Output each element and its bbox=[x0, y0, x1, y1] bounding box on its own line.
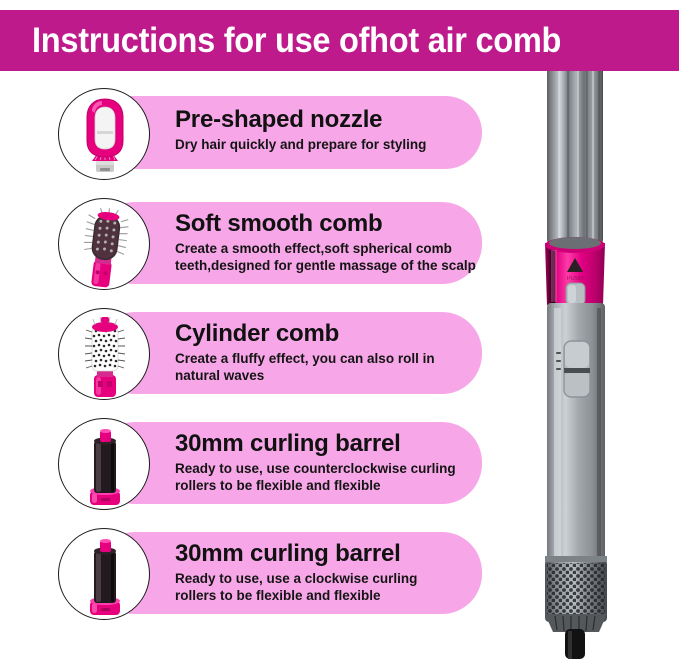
instruction-description: Create a smooth effect,soft spherical co… bbox=[175, 240, 467, 274]
mesh-filter bbox=[545, 556, 607, 632]
instruction-pill: Soft smooth comb Create a smooth effect,… bbox=[95, 202, 482, 284]
instruction-description-line: Create a fluffy effect, you can also rol… bbox=[175, 350, 467, 367]
instruction-pill: Cylinder comb Create a fluffy effect, yo… bbox=[95, 312, 482, 394]
instruction-description-line: Dry hair quickly and prepare for styling bbox=[175, 136, 467, 153]
instruction-description-line: teeth,designed for gentle massage of the… bbox=[175, 257, 467, 274]
power-cord bbox=[565, 629, 585, 659]
curling-barrel-counterclockwise-icon bbox=[58, 418, 150, 510]
instruction-title: 30mm curling barrel bbox=[175, 540, 475, 568]
instruction-row[interactable]: Cylinder comb Create a fluffy effect, yo… bbox=[0, 302, 520, 406]
instruction-description: Create a fluffy effect, you can also rol… bbox=[175, 350, 467, 384]
instruction-row[interactable]: 30mm curling barrel Ready to use, use a … bbox=[0, 522, 520, 626]
instruction-title: Soft smooth comb bbox=[175, 210, 475, 238]
instruction-title: Pre-shaped nozzle bbox=[175, 106, 475, 134]
header-band: Instructions for use ofhot air comb bbox=[0, 10, 679, 71]
instruction-row[interactable]: 30mm curling barrel Ready to use, use co… bbox=[0, 412, 520, 516]
magenta-collar: PUSH bbox=[545, 237, 605, 305]
instruction-pill: Pre-shaped nozzle Dry hair quickly and p… bbox=[95, 96, 482, 169]
soft-smooth-comb-icon bbox=[58, 198, 150, 290]
instruction-description-line: natural waves bbox=[175, 367, 467, 384]
attachment-release-button bbox=[566, 283, 585, 305]
instruction-pill: 30mm curling barrel Ready to use, use a … bbox=[95, 532, 482, 614]
instruction-pill: 30mm curling barrel Ready to use, use co… bbox=[95, 422, 482, 504]
page-title: Instructions for use ofhot air comb bbox=[32, 22, 561, 59]
instruction-description: Ready to use, use a clockwise curling ro… bbox=[175, 570, 467, 604]
instruction-row[interactable]: Soft smooth comb Create a smooth effect,… bbox=[0, 192, 520, 296]
instruction-description: Ready to use, use counterclockwise curli… bbox=[175, 460, 467, 494]
instruction-description: Dry hair quickly and prepare for styling bbox=[175, 136, 467, 153]
pre-shaped-nozzle-icon bbox=[58, 88, 150, 180]
instruction-description-line: Create a smooth effect,soft spherical co… bbox=[175, 240, 467, 257]
hot-air-styler-device: PUSH bbox=[499, 0, 679, 659]
instruction-description-line: rollers to be flexible and flexible bbox=[175, 587, 467, 604]
instruction-description-line: Ready to use, use a clockwise curling bbox=[175, 570, 467, 587]
instruction-description-line: rollers to be flexible and flexible bbox=[175, 477, 467, 494]
instruction-title: Cylinder comb bbox=[175, 320, 475, 348]
instruction-list: Pre-shaped nozzle Dry hair quickly and p… bbox=[0, 78, 520, 656]
instruction-row[interactable]: Pre-shaped nozzle Dry hair quickly and p… bbox=[0, 82, 520, 186]
instruction-title: 30mm curling barrel bbox=[175, 430, 475, 458]
instruction-description-line: Ready to use, use counterclockwise curli… bbox=[175, 460, 467, 477]
svg-text:PUSH: PUSH bbox=[567, 276, 584, 282]
cylinder-comb-icon bbox=[58, 308, 150, 400]
curling-barrel-clockwise-icon bbox=[58, 528, 150, 620]
